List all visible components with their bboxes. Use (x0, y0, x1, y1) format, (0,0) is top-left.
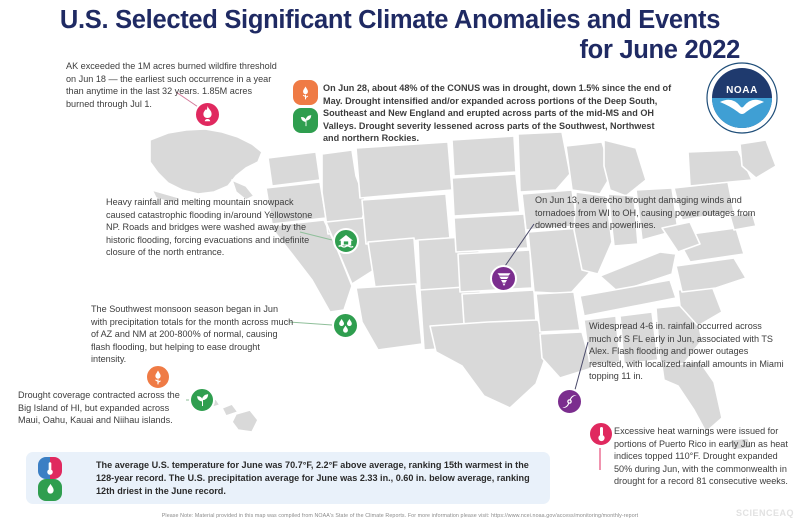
title-line-1: U.S. Selected Significant Climate Anomal… (0, 6, 780, 35)
thermometer-icon (38, 457, 62, 479)
map-state-ne (454, 214, 528, 252)
map-state-alaska (150, 129, 262, 194)
drought-icon (145, 364, 171, 390)
callout-southwest-monsoon: The Southwest monsoon season began in Ju… (91, 303, 296, 366)
callout-puerto-rico-heat: Excessive heat warnings were issued for … (614, 425, 789, 488)
map-state-la (540, 332, 592, 378)
map-hawaii-bigisland (232, 410, 258, 432)
map-state-wy (362, 194, 450, 244)
callout-alaska-wildfire: AK exceeded the 1M acres burned wildfire… (66, 60, 280, 110)
callout-midwest-derecho: On Jun 13, a derecho brought damaging wi… (535, 194, 770, 232)
footer-note: Please Note: Material provided in this m… (0, 513, 800, 519)
drought-icon (293, 80, 318, 105)
map-state-nc (676, 258, 746, 292)
callout-conus-drought: On Jun 28, about 48% of the CONUS was in… (323, 82, 673, 145)
infographic-page: U.S. Selected Significant Climate Anomal… (0, 0, 800, 530)
plant-drought-icon (293, 108, 318, 133)
summary-text: The average U.S. temperature for June wa… (96, 459, 542, 499)
map-state-mi (604, 140, 646, 196)
raindrop-icon (38, 479, 62, 501)
callout-hawaii-drought: Drought coverage contracted across the B… (18, 389, 193, 427)
callout-yellowstone-flooding: Heavy rainfall and melting mountain snow… (106, 196, 316, 259)
map-state-ar (536, 292, 580, 332)
callout-florida-rainfall: Widespread 4-6 in. rainfall occurred acr… (589, 320, 784, 383)
flooded-house-icon (333, 228, 359, 254)
watermark: SCIENCEAQ (736, 508, 794, 518)
map-state-sd (452, 174, 520, 216)
map-state-mt (356, 142, 452, 198)
raindrops-icon (332, 312, 359, 339)
national-summary-box: The average U.S. temperature for June wa… (26, 452, 550, 504)
tropical-storm-icon (556, 388, 583, 415)
map-state-tx (430, 320, 548, 408)
tornado-icon (490, 265, 517, 292)
map-state-wa (268, 152, 320, 186)
map-state-az (356, 284, 422, 350)
thermometer-icon (588, 421, 614, 447)
